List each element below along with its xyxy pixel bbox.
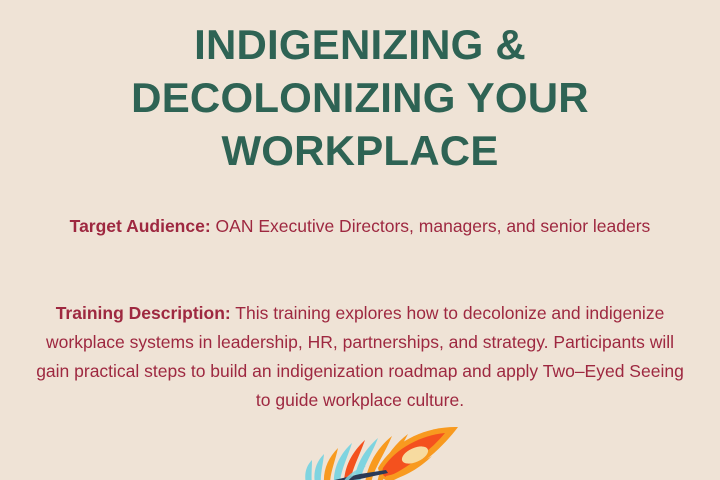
title-line-1: INDIGENIZING & [60,18,660,71]
slide-canvas: INDIGENIZING & DECOLONIZING YOUR WORKPLA… [0,0,720,480]
training-description-paragraph: Training Description: This training expl… [36,299,684,415]
training-description-label: Training Description: [56,303,231,323]
title-line-3: WORKPLACE [60,124,660,177]
body-content: Target Audience: OAN Executive Directors… [36,212,684,415]
feather-icon [282,424,482,480]
target-audience-paragraph: Target Audience: OAN Executive Directors… [50,212,670,241]
target-audience-text: OAN Executive Directors, managers, and s… [211,216,651,236]
page-title: INDIGENIZING & DECOLONIZING YOUR WORKPLA… [60,18,660,177]
target-audience-label: Target Audience: [70,216,211,236]
title-line-2: DECOLONIZING YOUR [60,71,660,124]
